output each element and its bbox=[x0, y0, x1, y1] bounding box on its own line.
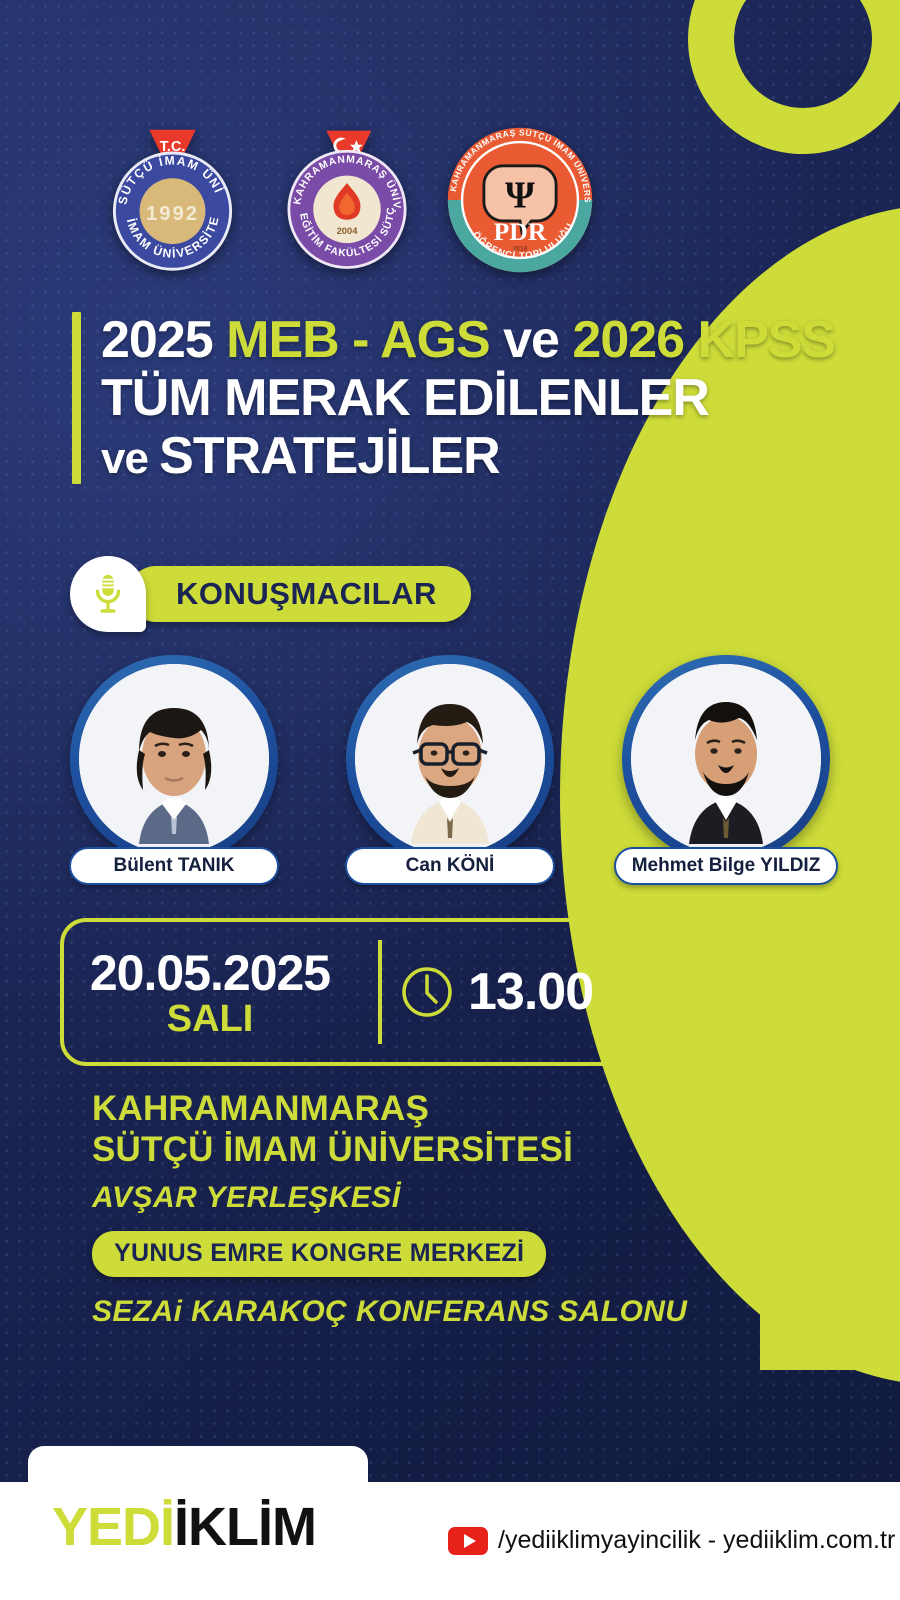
speaker-portrait-ring bbox=[346, 655, 554, 863]
title-year-2025: 2025 bbox=[101, 311, 226, 369]
egitim-fakultesi-emblem: 2004 KAHRAMANMARAŞ ÜNİVERSİTESİ EĞİTİM F… bbox=[272, 125, 422, 275]
venue-hall: YUNUS EMRE KONGRE MERKEZİ bbox=[114, 1239, 524, 1268]
title-line-1: 2025 MEB - AGS ve 2026 KPSS bbox=[101, 312, 835, 368]
speakers-list: Bülent TANIK bbox=[0, 655, 900, 885]
avatar bbox=[631, 664, 821, 854]
speakers-label-pill: KONUŞMACILAR bbox=[128, 566, 471, 622]
venue-line-2: SÜTÇÜ İMAM ÜNİVERSİTESİ bbox=[92, 1129, 687, 1170]
event-time: 13.00 bbox=[468, 962, 593, 1022]
svg-text:1992: 1992 bbox=[146, 203, 199, 225]
speakers-label: KONUŞMACILAR bbox=[176, 576, 437, 612]
brand-logo: YEDİİKLİM bbox=[52, 1500, 316, 1554]
speaker-name-chip: Can KÖNİ bbox=[345, 847, 555, 885]
ksu-university-emblem: T.C. 1992 SÜTÇÜ İMAM ÜNİ İMAM ÜNİVERSİTE bbox=[95, 122, 250, 277]
title-ve-2: ve bbox=[101, 434, 159, 483]
microphone-icon bbox=[91, 573, 125, 615]
pdr-student-club-emblem: Ψ PDR 2018 KAHRAMANMARAŞ SÜTÇÜ İMAM ÜNİV… bbox=[444, 124, 596, 276]
social-links[interactable]: /yediiklimyayincilik - yediiklim.com.tr bbox=[448, 1526, 895, 1555]
speaker-card: Bülent TANIK bbox=[58, 655, 290, 885]
speaker-photo-mehmet-bilge-yildiz bbox=[631, 664, 821, 854]
speaker-portrait-ring bbox=[70, 655, 278, 863]
social-handle-and-site[interactable]: /yediiklimyayincilik - yediiklim.com.tr bbox=[498, 1526, 895, 1555]
footer-bar: YEDİİKLİM /yediiklimyayincilik - yediikl… bbox=[0, 1482, 900, 1600]
datetime-block: 20.05.2025 SALI 13.00 bbox=[60, 930, 760, 1054]
clock-icon bbox=[400, 965, 454, 1019]
title-stratejiler: STRATEJİLER bbox=[159, 427, 500, 485]
youtube-icon[interactable] bbox=[448, 1527, 488, 1555]
speech-bubble bbox=[70, 556, 146, 632]
title-meb-ags: MEB - AGS bbox=[226, 311, 490, 369]
speaker-photo-bulent-tanik bbox=[79, 664, 269, 854]
venue-hall-pill: YUNUS EMRE KONGRE MERKEZİ bbox=[92, 1231, 546, 1277]
date-column: 20.05.2025 SALI bbox=[60, 942, 360, 1042]
svg-text:2004: 2004 bbox=[337, 225, 359, 235]
svg-text:PDR: PDR bbox=[494, 216, 547, 245]
poster-root: T.C. 1992 SÜTÇÜ İMAM ÜNİ İMAM ÜNİVERSİTE… bbox=[0, 0, 900, 1600]
event-date: 20.05.2025 bbox=[60, 948, 360, 998]
svg-text:Ψ: Ψ bbox=[505, 174, 535, 216]
speaker-portrait-ring bbox=[622, 655, 830, 863]
brand-logo-yedi: YEDİ bbox=[52, 1497, 174, 1557]
venue-campus: AVŞAR YERLEŞKESİ bbox=[92, 1181, 687, 1215]
title-ve-1: ve bbox=[490, 311, 573, 369]
title-line-2: TÜM MERAK EDİLENLER bbox=[101, 370, 835, 426]
title-kpss-2026: 2026 KPSS bbox=[572, 311, 835, 369]
speaker-name: Bülent TANIK bbox=[113, 855, 234, 877]
avatar bbox=[79, 664, 269, 854]
institution-logos: T.C. 1992 SÜTÇÜ İMAM ÜNİ İMAM ÜNİVERSİTE… bbox=[0, 122, 900, 277]
title-line-3: ve STRATEJİLER bbox=[101, 428, 835, 484]
speaker-name-chip: Mehmet Bilge YILDIZ bbox=[614, 847, 839, 885]
speakers-badge: KONUŞMACILAR bbox=[70, 556, 471, 632]
green-blob-secondary-decoration bbox=[760, 900, 900, 1370]
venue-line-1: KAHRAMANMARAŞ bbox=[92, 1088, 687, 1129]
title-accent-bar bbox=[72, 312, 81, 484]
speaker-name-chip: Bülent TANIK bbox=[69, 847, 279, 885]
venue-room: SEZAi KARAKOÇ KONFERANS SALONU bbox=[92, 1295, 687, 1329]
page-title: 2025 MEB - AGS ve 2026 KPSS TÜM MERAK ED… bbox=[72, 312, 835, 484]
time-column: 13.00 bbox=[400, 962, 593, 1022]
brand-logo-iklim: İKLİM bbox=[174, 1497, 316, 1557]
speaker-card: Mehmet Bilge YILDIZ bbox=[610, 655, 842, 885]
venue-block: KAHRAMANMARAŞ SÜTÇÜ İMAM ÜNİVERSİTESİ AV… bbox=[92, 1088, 687, 1329]
speaker-name: Mehmet Bilge YILDIZ bbox=[632, 855, 821, 877]
speaker-card: Can KÖNİ bbox=[334, 655, 566, 885]
event-day: SALI bbox=[60, 998, 360, 1042]
datetime-divider bbox=[378, 940, 382, 1044]
speaker-photo-can-koni bbox=[355, 664, 545, 854]
speaker-name: Can KÖNİ bbox=[406, 855, 495, 877]
avatar bbox=[355, 664, 545, 854]
